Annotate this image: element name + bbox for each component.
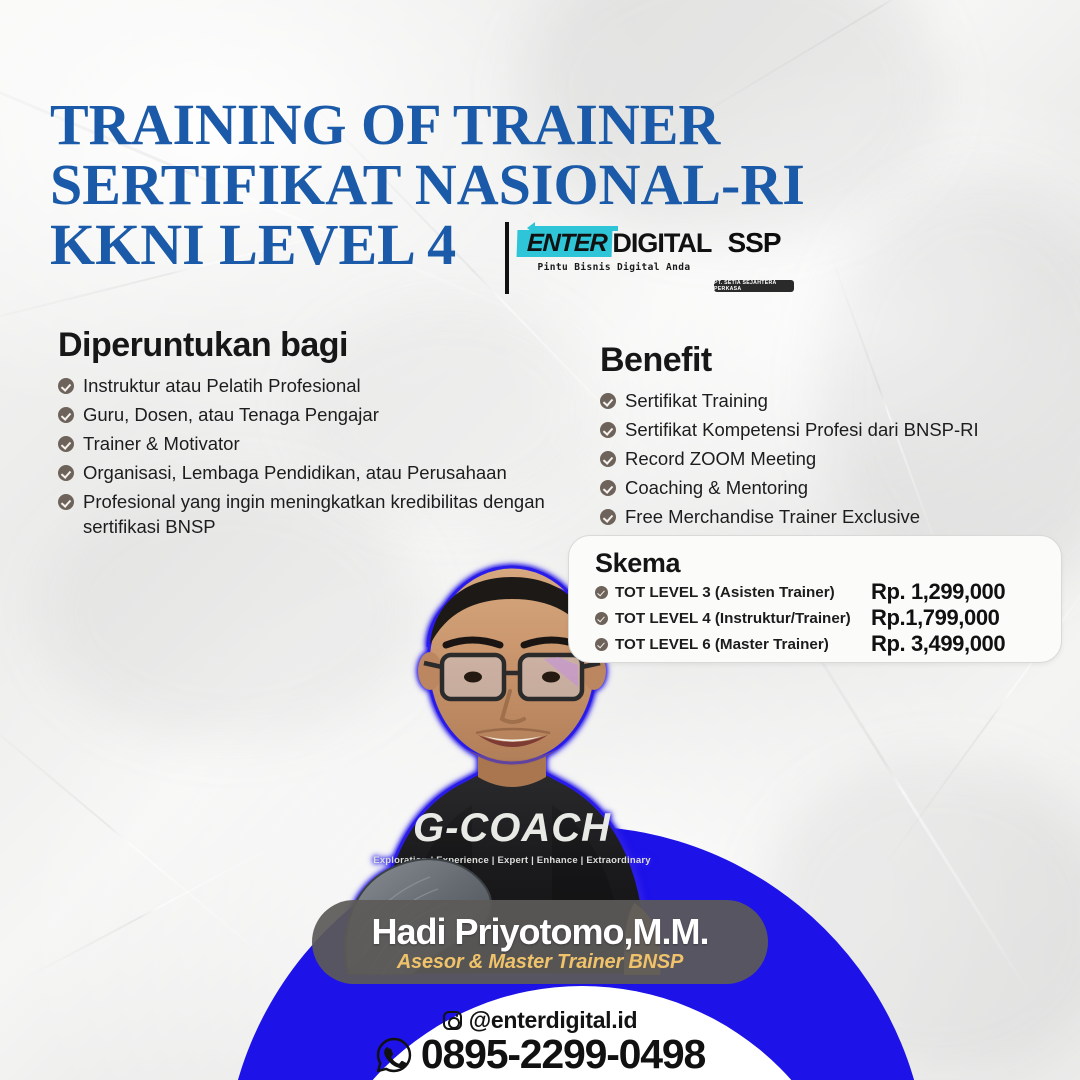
instagram-handle: @enterdigital.id xyxy=(469,1007,637,1034)
skema-row: TOT LEVEL 6 (Master Trainer) Rp. 3,499,0… xyxy=(595,631,1043,656)
check-circle-icon xyxy=(600,451,616,467)
check-circle-icon xyxy=(58,465,74,481)
instagram-contact[interactable]: @enterdigital.id xyxy=(0,1007,1080,1034)
instagram-icon xyxy=(443,1011,462,1030)
left-arrow-icon xyxy=(532,226,618,231)
benefit-item-label: Sertifikat Training xyxy=(625,388,768,413)
check-circle-icon xyxy=(595,586,608,599)
check-circle-icon xyxy=(58,378,74,394)
benefit-item-label: Coaching & Mentoring xyxy=(625,475,808,500)
vertical-divider xyxy=(505,222,509,294)
check-circle-icon xyxy=(600,480,616,496)
list-item: Trainer & Motivator xyxy=(58,431,578,456)
whatsapp-number: 0895-2299-0498 xyxy=(421,1031,705,1078)
skema-price: Rp.1,799,000 xyxy=(871,605,1000,630)
check-circle-icon xyxy=(595,612,608,625)
enter-digital-tagline: Pintu Bisnis Digital Anda xyxy=(530,262,698,273)
whatsapp-icon xyxy=(375,1036,413,1074)
enter-digital-wordmark: ENTER DIGITAL xyxy=(530,230,698,257)
skema-level-label: TOT LEVEL 6 (Master Trainer) xyxy=(615,633,829,656)
ssp-company-name: PT. SETIA SEJAHTERA PERKASA xyxy=(714,280,794,292)
ssp-logo: SSP PT. SETIA SEJAHTERA PERKASA xyxy=(708,222,800,284)
speaker-name-banner: Hadi Priyotomo,M.M. Asesor & Master Trai… xyxy=(312,900,768,984)
audience-item-label: Instruktur atau Pelatih Profesional xyxy=(83,373,361,398)
benefit-item-label: Record ZOOM Meeting xyxy=(625,446,816,471)
skema-level-label-wrap: TOT LEVEL 6 (Master Trainer) xyxy=(595,633,871,656)
speaker-name: Hadi Priyotomo,M.M. xyxy=(371,913,708,951)
skema-title: Skema xyxy=(595,548,1043,578)
check-circle-icon xyxy=(600,393,616,409)
skema-row: TOT LEVEL 3 (Asisten Trainer) Rp. 1,299,… xyxy=(595,579,1043,604)
list-item: Sertifikat Kompetensi Profesi dari BNSP-… xyxy=(600,417,1050,442)
audience-item-label: Trainer & Motivator xyxy=(83,431,240,456)
enter-digital-logo: ENTER DIGITAL Pintu Bisnis Digital Anda xyxy=(530,230,698,273)
benefit-item-label: Sertifikat Kompetensi Profesi dari BNSP-… xyxy=(625,417,979,442)
skema-price: Rp. 3,499,000 xyxy=(871,631,1005,656)
list-item: Guru, Dosen, atau Tenaga Pengajar xyxy=(58,402,578,427)
poster-canvas: TRAINING OF TRAINER SERTIFIKAT NASIONAL-… xyxy=(0,0,1080,1080)
enter-digital-word-digital: DIGITAL xyxy=(612,230,711,257)
skema-price: Rp. 1,299,000 xyxy=(871,579,1005,604)
list-item: Organisasi, Lembaga Pendidikan, atau Per… xyxy=(58,460,578,485)
headline-line-2: SERTIFIKAT NASIONAL-RI xyxy=(50,155,805,215)
audience-item-label: Organisasi, Lembaga Pendidikan, atau Per… xyxy=(83,460,507,485)
whatsapp-contact[interactable]: 0895-2299-0498 xyxy=(0,1031,1080,1078)
skema-row: TOT LEVEL 4 (Instruktur/Trainer) Rp.1,79… xyxy=(595,605,1043,630)
skema-level-label-wrap: TOT LEVEL 3 (Asisten Trainer) xyxy=(595,581,871,604)
list-item: Sertifikat Training xyxy=(600,388,1050,413)
enter-digital-word-enter: ENTER xyxy=(516,230,612,257)
skema-level-label-wrap: TOT LEVEL 4 (Instruktur/Trainer) xyxy=(595,607,871,630)
list-item: Instruktur atau Pelatih Profesional xyxy=(58,373,578,398)
audience-item-label: Guru, Dosen, atau Tenaga Pengajar xyxy=(83,402,379,427)
list-item: Coaching & Mentoring xyxy=(600,475,1050,500)
skema-card: Skema TOT LEVEL 3 (Asisten Trainer) Rp. … xyxy=(568,535,1062,663)
list-item: Record ZOOM Meeting xyxy=(600,446,1050,471)
skema-level-label: TOT LEVEL 4 (Instruktur/Trainer) xyxy=(615,607,851,630)
benefit-title: Benefit xyxy=(600,340,1050,380)
check-circle-icon xyxy=(600,422,616,438)
check-circle-icon xyxy=(58,407,74,423)
check-circle-icon xyxy=(595,638,608,651)
speaker-role: Asesor & Master Trainer BNSP xyxy=(397,950,683,974)
skema-level-label: TOT LEVEL 3 (Asisten Trainer) xyxy=(615,581,835,604)
headline-line-1: TRAINING OF TRAINER xyxy=(50,95,805,155)
check-circle-icon xyxy=(58,436,74,452)
audience-title: Diperuntukan bagi xyxy=(58,325,578,365)
ssp-logo-mark: SSP PT. SETIA SEJAHTERA PERKASA xyxy=(708,222,800,284)
check-circle-icon xyxy=(58,494,74,510)
ssp-wordmark: SSP xyxy=(708,228,800,258)
svg-text:G-COACH: G-COACH xyxy=(413,806,611,850)
